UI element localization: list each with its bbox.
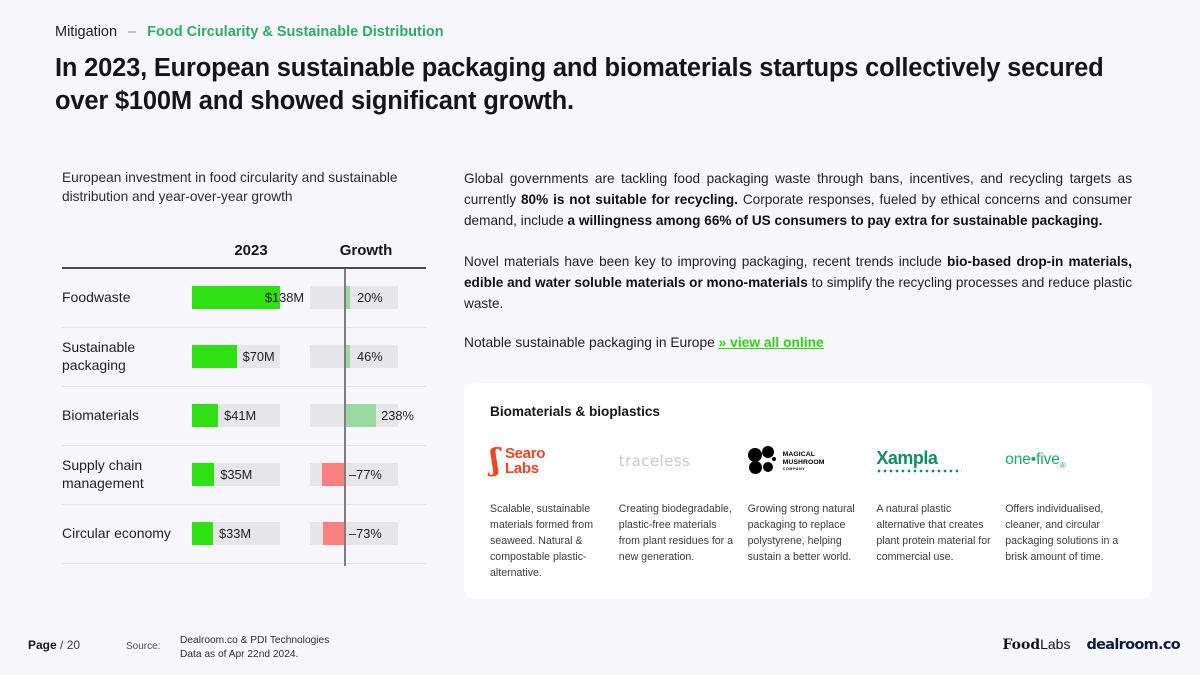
company-description: Creating biodegradable, plastic-free mat… [619, 501, 735, 565]
traceless-logo-text: traceless [619, 452, 690, 470]
amount-cell: $33M [192, 522, 310, 545]
growth-track [310, 286, 398, 309]
notable-label: Notable sustainable packaging in Europe [464, 335, 719, 350]
growth-cell: 46% [310, 345, 422, 368]
searo-labs-logo: ʃ Searo Labs [490, 431, 606, 491]
mm-logo-line3: COMPANY [783, 467, 825, 471]
table-row: Supply chain management$35M–77% [62, 446, 426, 505]
chart-rows: Foodwaste$138M20%Sustainable packaging$7… [62, 269, 426, 564]
page-title: In 2023, European sustainable packaging … [55, 52, 1160, 117]
amount-cell: $35M [192, 463, 310, 486]
p2-text-a: Novel materials have been key to improvi… [464, 254, 947, 269]
chart-title: European investment in food circularity … [62, 168, 422, 207]
growth-bar [322, 463, 344, 486]
growth-cell: –77% [310, 463, 422, 486]
amount-value: $70M [243, 345, 275, 368]
slide-root: Mitigation – Food Circularity & Sustaina… [0, 0, 1200, 675]
amount-cell: $70M [192, 345, 310, 368]
company-description: Growing strong natural packaging to repl… [748, 501, 864, 565]
chart-table: 2023 Growth Foodwaste$138M20%Sustainable… [62, 229, 426, 564]
xampla-logo-text: Xampla [876, 449, 962, 467]
row-label: Sustainable packaging [62, 339, 192, 375]
column-header-2023: 2023 [192, 242, 310, 259]
table-row: Biomaterials$41M238% [62, 387, 426, 446]
view-all-online-link[interactable]: » view all online [719, 335, 824, 350]
xampla-logo: Xampla [876, 431, 992, 491]
growth-bar [323, 522, 344, 545]
amount-value: $41M [224, 404, 256, 427]
brand-logos: FoodLabs dealroom.co [1002, 636, 1180, 653]
dealroom-logo: dealroom.co [1086, 637, 1180, 653]
paragraph-two: Novel materials have been key to improvi… [464, 251, 1132, 314]
breadcrumb-category: Mitigation [55, 24, 117, 40]
notable-line: Notable sustainable packaging in Europe … [464, 335, 1132, 350]
body-panel: Global governments are tackling food pac… [464, 168, 1132, 350]
one-five-logo: one•five® [1005, 431, 1121, 491]
chart-panel: European investment in food circularity … [62, 168, 426, 564]
growth-value: –77% [349, 463, 382, 486]
company-description: Scalable, sustainable materials formed f… [490, 501, 606, 581]
company-logo-grid: ʃ Searo Labs Scalable, sustainable mater… [490, 431, 1134, 581]
source-text: Dealroom.co & PDI Technologies Data as o… [180, 634, 329, 663]
growth-value: 238% [381, 404, 414, 427]
table-row: Circular economy$33M–73% [62, 505, 426, 564]
source-line-1: Dealroom.co & PDI Technologies [180, 634, 329, 648]
one-five-registered-icon: ® [1060, 462, 1066, 471]
growth-value: 46% [357, 345, 383, 368]
growth-cell: 20% [310, 286, 422, 309]
amount-value: $138M [265, 286, 304, 309]
amount-value: $33M [219, 522, 251, 545]
page-value: / 20 [60, 638, 80, 652]
source-line-2: Data as of Apr 22nd 2024. [180, 648, 329, 662]
paragraph-one: Global governments are tackling food pac… [464, 168, 1132, 231]
growth-value: –73% [349, 522, 382, 545]
mm-logo-line1: MAGICAL [783, 451, 815, 458]
table-row: Foodwaste$138M20% [62, 269, 426, 328]
amount-cell: $138M [192, 286, 310, 309]
amount-value: $35M [220, 463, 252, 486]
growth-cell: –73% [310, 522, 422, 545]
amount-bar [192, 345, 237, 368]
growth-zero-axis [344, 269, 346, 566]
searo-logo-line2: Labs [505, 460, 539, 477]
company-item-magical-mushroom[interactable]: MAGICAL MUSHROOM COMPANY Growing strong … [748, 431, 864, 581]
breadcrumb-topic: Food Circularity & Sustainable Distribut… [147, 24, 443, 40]
growth-cell: 238% [310, 404, 422, 427]
foodlabs-logo-b: Labs [1040, 636, 1070, 652]
xampla-dots-icon [876, 469, 962, 473]
source-label: Source: [126, 641, 160, 652]
company-description: A natural plastic alternative that creat… [876, 501, 992, 565]
growth-value: 20% [357, 286, 383, 309]
growth-track [310, 345, 398, 368]
mushroom-blob-icon [748, 446, 778, 476]
p1-bold-a: 80% is not suitable for recycling. [521, 192, 738, 207]
searo-s-icon: ʃ [490, 448, 500, 474]
amount-cell: $41M [192, 404, 310, 427]
chart-header-row: 2023 Growth [62, 229, 426, 259]
company-description: Offers individualised, cleaner, and circ… [1005, 501, 1121, 565]
row-label: Biomaterials [62, 407, 192, 425]
company-item-searo[interactable]: ʃ Searo Labs Scalable, sustainable mater… [490, 431, 606, 581]
company-item-traceless[interactable]: traceless Creating biodegradable, plasti… [619, 431, 735, 581]
breadcrumb-separator: – [128, 24, 136, 40]
foodlabs-logo: FoodLabs [1002, 636, 1070, 653]
column-header-growth: Growth [310, 242, 422, 259]
mm-logo-line2: MUSHROOM [783, 459, 825, 466]
row-label: Circular economy [62, 525, 192, 543]
growth-bar [344, 404, 376, 427]
company-item-xampla[interactable]: Xampla A natural plastic alternative tha… [876, 431, 992, 581]
companies-card: Biomaterials & bioplastics ʃ Searo Labs … [464, 383, 1152, 599]
breadcrumb: Mitigation – Food Circularity & Sustaina… [55, 24, 444, 40]
amount-bar [192, 522, 213, 545]
page-label: Page [28, 638, 57, 652]
p1-bold-b: a willingness among 66% of US consumers … [568, 213, 1103, 228]
one-five-logo-text: one•five [1005, 451, 1060, 468]
amount-bar [192, 404, 218, 427]
row-label: Supply chain management [62, 457, 192, 493]
row-label: Foodwaste [62, 289, 192, 307]
company-item-one-five[interactable]: one•five® Offers individualised, cleaner… [1005, 431, 1121, 581]
page-number: Page / 20 [28, 638, 80, 652]
card-title: Biomaterials & bioplastics [490, 404, 660, 419]
foodlabs-logo-a: Food [1002, 637, 1040, 653]
table-row: Sustainable packaging$70M46% [62, 328, 426, 387]
magical-mushroom-logo: MAGICAL MUSHROOM COMPANY [748, 431, 864, 491]
amount-bar [192, 463, 214, 486]
traceless-logo: traceless [619, 431, 735, 491]
